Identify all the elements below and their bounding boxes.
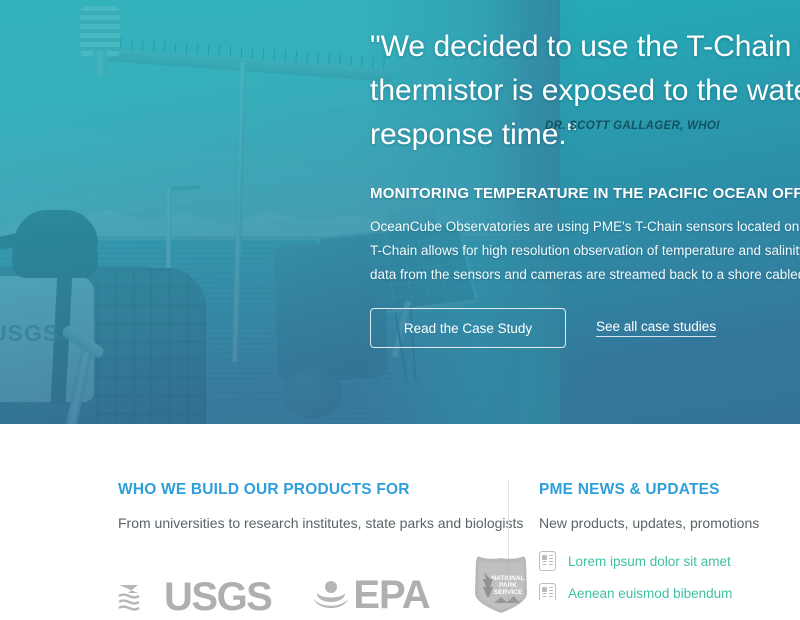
audience-title: WHO WE BUILD OUR PRODUCTS FOR: [118, 481, 508, 499]
hero-actions: Read the Case Study See all case studies: [370, 308, 716, 348]
usgs-wave-icon: [118, 579, 160, 615]
news-subtitle: New products, updates, promotions: [539, 515, 800, 531]
hero-quote-line-2: thermistor is exposed to the water, prov…: [370, 69, 800, 113]
article-icon: [539, 551, 556, 571]
hero-body-text: OceanCube Observatories are using PME's …: [370, 215, 800, 287]
news-list: Lorem ipsum dolor sit amet Aenean euismo…: [539, 551, 800, 600]
national-park-service-logo[interactable]: NATIONAL PARK SERVICE: [470, 553, 532, 615]
hero-quote: "We decided to use the T-Chain from PME …: [370, 25, 800, 157]
news-title: PME NEWS & UPDATES: [539, 481, 800, 499]
news-item-link[interactable]: Lorem ipsum dolor sit amet: [568, 554, 731, 569]
nps-arrowhead-icon: NATIONAL PARK SERVICE: [470, 553, 532, 615]
lower-section: WHO WE BUILD OUR PRODUCTS FOR From unive…: [0, 424, 800, 600]
hero-body-line-3: data from the sensors and cameras are st…: [370, 263, 800, 287]
hero-body-line-2: T-Chain allows for high resolution obser…: [370, 239, 800, 263]
hero-content: "We decided to use the T-Chain from PME …: [370, 0, 800, 424]
news-column: PME NEWS & UPDATES New products, updates…: [509, 424, 800, 600]
hero-subheading: MONITORING TEMPERATURE IN THE PACIFIC OC…: [370, 185, 800, 202]
see-all-case-studies-link[interactable]: See all case studies: [596, 319, 716, 337]
hero-quote-line-1: "We decided to use the T-Chain from PME …: [370, 25, 800, 69]
hero-quote-attribution: DR. SCOTT GALLAGER, WHOI: [545, 120, 720, 132]
audience-subtitle: From universities to research institutes…: [118, 515, 508, 531]
epa-logo-text: EPA: [353, 577, 429, 613]
svg-text:SERVICE: SERVICE: [493, 589, 522, 596]
audience-column: WHO WE BUILD OUR PRODUCTS FOR From unive…: [0, 424, 508, 600]
read-case-study-button[interactable]: Read the Case Study: [370, 308, 566, 348]
usgs-logo[interactable]: USGS: [118, 579, 271, 615]
epa-seal-icon: [311, 575, 351, 615]
hero-body-line-1: OceanCube Observatories are using PME's …: [370, 215, 800, 239]
usgs-logo-text: USGS: [164, 579, 271, 615]
list-item[interactable]: Aenean euismod bibendum: [539, 583, 800, 600]
list-item[interactable]: Lorem ipsum dolor sit amet: [539, 551, 800, 571]
news-item-link[interactable]: Aenean euismod bibendum: [568, 586, 732, 601]
hero-section: USGS "We decided to use the T-Chain from…: [0, 0, 800, 424]
article-icon: [539, 583, 556, 600]
svg-text:PARK: PARK: [499, 582, 517, 589]
partner-logos: USGS EPA NATIONAL PARK SERVICE: [118, 553, 508, 615]
svg-text:NATIONAL: NATIONAL: [491, 575, 524, 582]
epa-logo[interactable]: EPA: [311, 575, 429, 615]
